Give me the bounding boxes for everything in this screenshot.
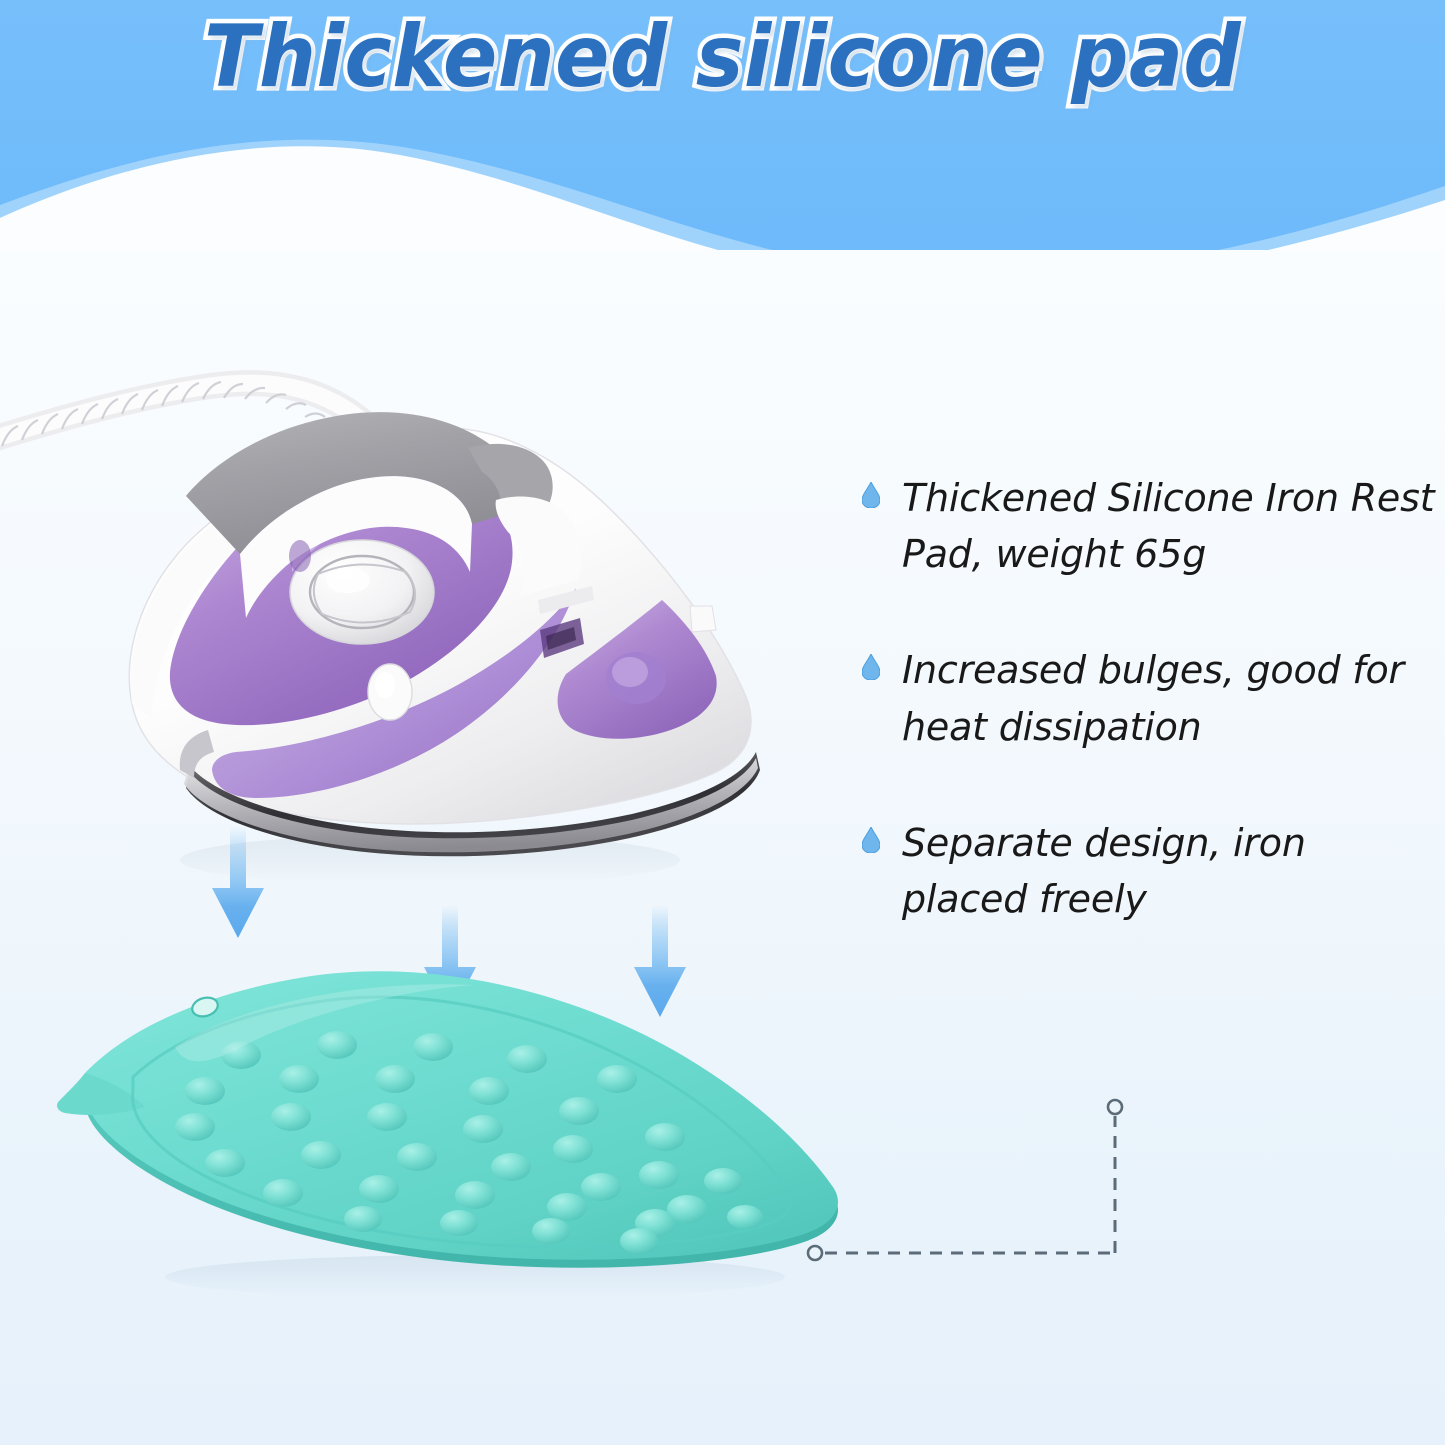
list-item-label: Separate design, iron placed freely (902, 815, 1437, 927)
header-band (0, 0, 1445, 250)
feature-bullet-list: Thickened Silicone Iron Rest Pad, weight… (862, 470, 1437, 987)
infographic-page: Thickened silicone pad (0, 0, 1445, 1445)
list-item-label: Increased bulges, good for heat dissipat… (902, 642, 1437, 754)
dimension-callout (795, 1090, 1140, 1275)
list-item-label: Thickened Silicone Iron Rest Pad, weight… (902, 470, 1437, 582)
list-item: Thickened Silicone Iron Rest Pad, weight… (862, 470, 1437, 582)
water-drop-icon (862, 827, 880, 853)
steam-iron-image (0, 300, 800, 900)
list-item: Increased bulges, good for heat dissipat… (862, 642, 1437, 754)
down-arrow-icon (210, 826, 266, 938)
silicone-pad-image (55, 955, 865, 1305)
temperature-dial (290, 540, 434, 644)
list-item: Separate design, iron placed freely (862, 815, 1437, 927)
water-drop-icon (862, 654, 880, 680)
water-drop-icon (862, 482, 880, 508)
